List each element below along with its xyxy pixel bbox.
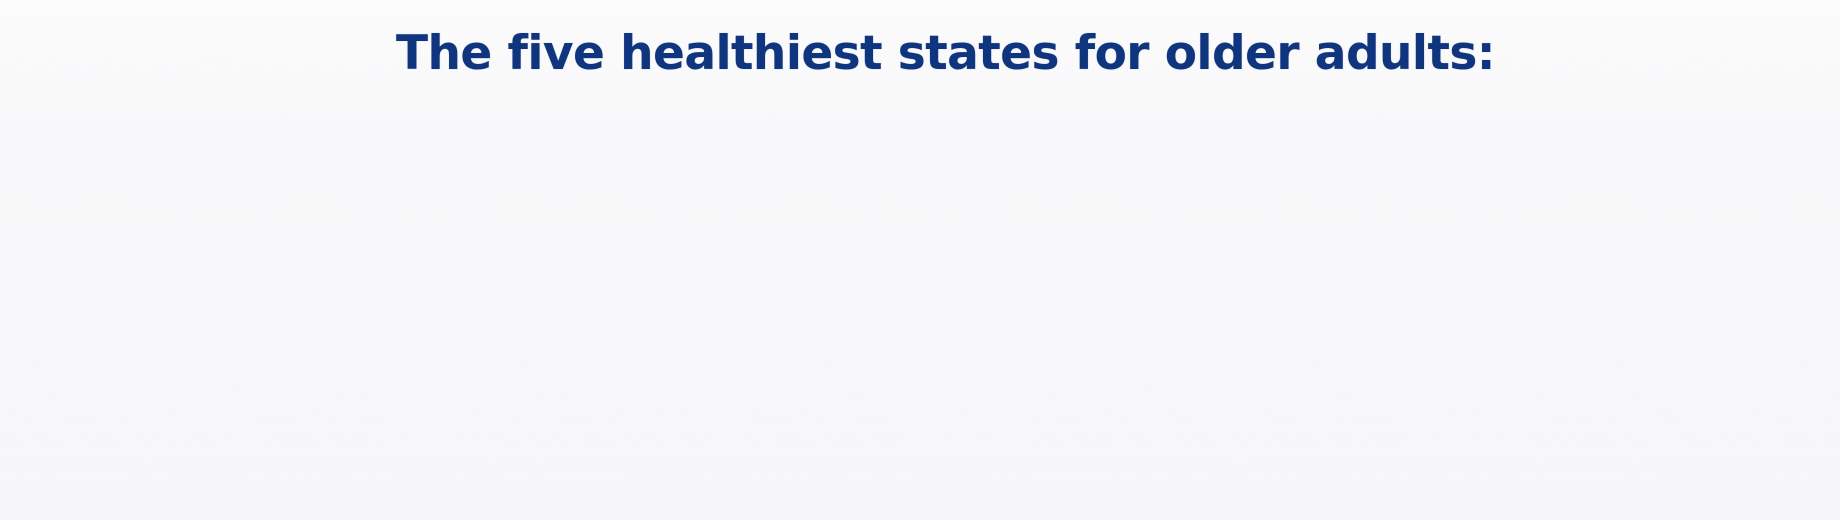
slide-canvas: The five healthiest states for older adu…	[0, 0, 1840, 520]
page-title: The five healthiest states for older adu…	[396, 30, 1495, 79]
headline-block: The five healthiest states for older adu…	[0, 0, 1840, 108]
empty-content-area	[0, 108, 1840, 520]
